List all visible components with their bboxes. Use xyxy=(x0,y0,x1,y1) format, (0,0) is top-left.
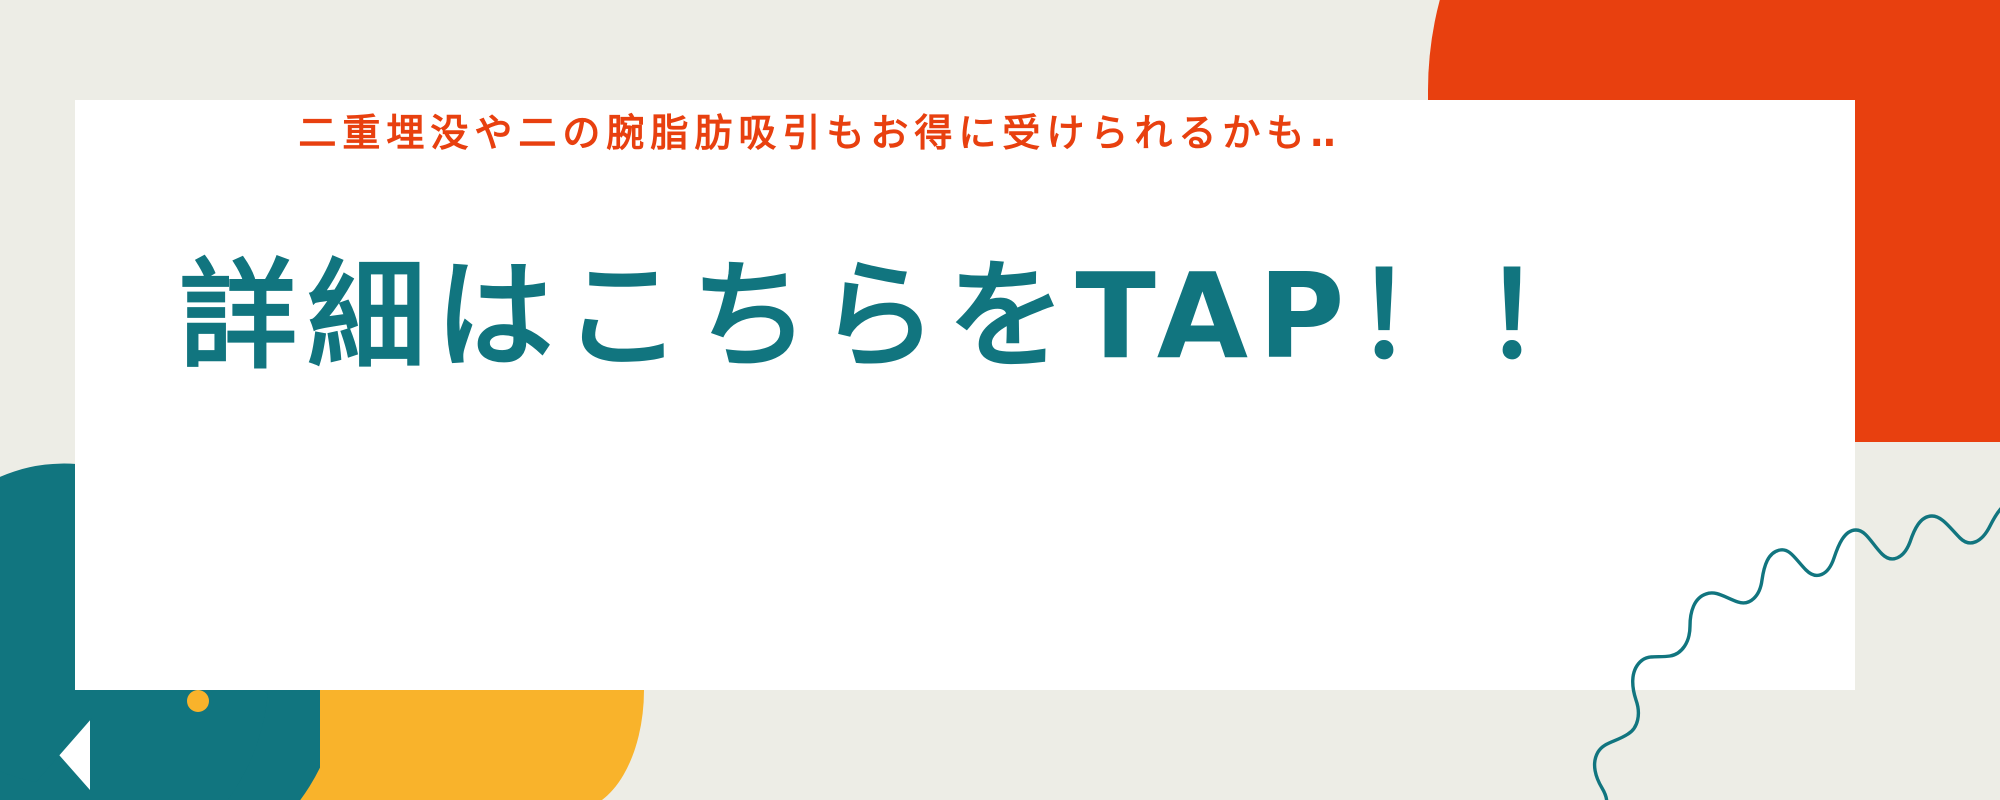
promo-banner[interactable]: 二重埋没や二の腕脂肪吸引もお得に受けられるかも‥ 詳細はこちらをTAP！！ xyxy=(0,0,2000,800)
orange-dot-icon xyxy=(1858,130,1878,154)
amber-dot-icon xyxy=(187,690,209,712)
white-card xyxy=(75,100,1855,690)
banner-headline-cta[interactable]: 詳細はこちらをTAP！！ xyxy=(0,255,1790,379)
banner-subtitle: 二重埋没や二の腕脂肪吸引もお得に受けられるかも‥ xyxy=(0,102,1640,157)
